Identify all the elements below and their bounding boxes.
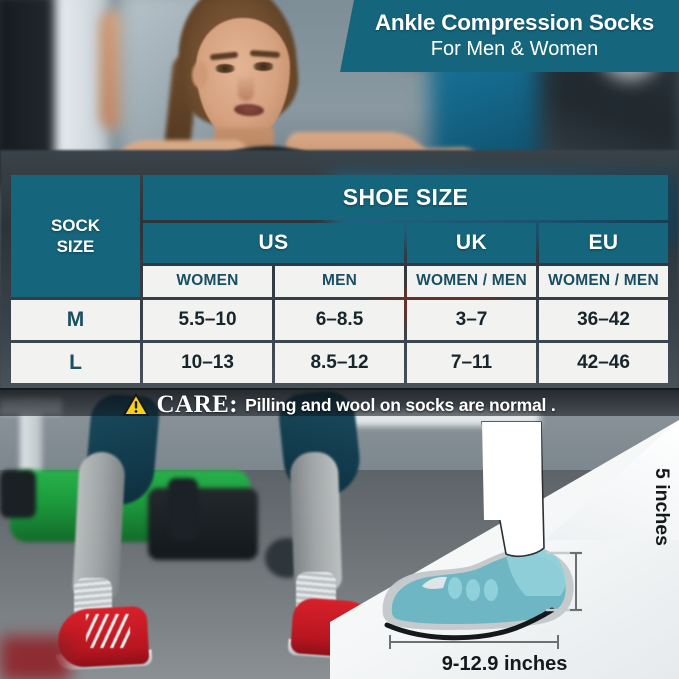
row-size-m: M (11, 300, 140, 340)
model-eye (252, 62, 275, 71)
cell-m-eu: 36–42 (539, 300, 668, 340)
gym-bag-panel (148, 488, 258, 560)
size-chart-table: SOCK SIZE SHOE SIZE US UK EU WOMEN MEN W… (8, 172, 671, 386)
table-row: M 5.5–10 6–8.5 3–7 36–42 (11, 300, 668, 340)
height-dimension-label: 5 inches (650, 468, 673, 546)
banner-title: Ankle Compression Socks (375, 11, 654, 35)
region-header-eu: EU (539, 223, 668, 263)
banner-subtitle: For Men & Women (431, 37, 598, 61)
cell-m-uk: 3–7 (407, 300, 536, 340)
care-instruction: CARE: Pilling and wool on socks are norm… (0, 390, 679, 420)
cell-l-us-women: 10–13 (143, 343, 272, 383)
warning-triangle-icon (123, 393, 149, 417)
cell-l-uk: 7–11 (407, 343, 536, 383)
shoe-laces-left (86, 614, 130, 648)
cell-m-us-men: 6–8.5 (275, 300, 404, 340)
gym-bag-strap (0, 470, 36, 518)
title-banner: Ankle Compression Socks For Men & Women (340, 0, 679, 72)
table-row-header-1: SOCK SIZE SHOE SIZE (11, 175, 668, 220)
subheader-uk: WOMEN / MEN (407, 266, 536, 296)
measurement-diagram: 5 inches 9-12.9 inches (330, 420, 679, 679)
diagram-graphics (330, 420, 679, 679)
region-header-us: US (143, 223, 404, 263)
photo-blur-shape (0, 636, 70, 679)
sock-size-header-cell: SOCK SIZE (11, 175, 140, 297)
length-dimension-label: 9-12.9 inches (330, 653, 679, 676)
cell-m-us-women: 5.5–10 (143, 300, 272, 340)
care-text: Pilling and wool on socks are normal . (245, 395, 555, 416)
cell-l-eu: 42–46 (539, 343, 668, 383)
cell-l-us-men: 8.5–12 (275, 343, 404, 383)
table-row: L 10–13 8.5–12 7–11 42–46 (11, 343, 668, 383)
gym-bag-strap (168, 478, 198, 540)
subheader-us-women: WOMEN (143, 266, 272, 296)
shoe-size-header-cell: SHOE SIZE (143, 175, 668, 220)
sock-size-chart-page: Ankle Compression Socks For Men & Women … (0, 0, 679, 679)
row-size-l: L (11, 343, 140, 383)
subheader-eu: WOMEN / MEN (539, 266, 668, 296)
model-nose (238, 75, 254, 101)
sock-size-header-line1: SOCK (51, 216, 100, 235)
model-eye (214, 64, 236, 73)
region-header-uk: UK (407, 223, 536, 263)
care-label: CARE: (156, 391, 238, 419)
subheader-us-men: MEN (275, 266, 404, 296)
model-ear (192, 62, 208, 88)
sock-size-header-line2: SIZE (57, 237, 95, 256)
